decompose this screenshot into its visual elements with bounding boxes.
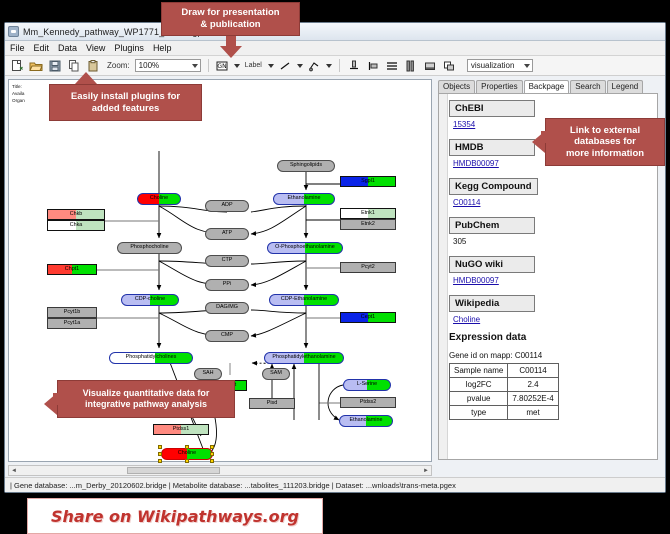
metabolite-node-phosphocholine[interactable]: Phosphocholine [117,242,182,254]
pathvisio-window: Mm_Kennedy_pathway_WP1771_45176.gpml Fil… [4,22,666,493]
node-label: Ethanolamine [288,196,321,201]
selection-handle[interactable] [185,445,189,449]
selection-handle[interactable] [210,445,214,449]
callout-plugins-text: Easily install plugins foradded features [71,91,180,114]
node-label: O-Phosphoethanolamine [275,245,335,250]
callout-visualize: Visualize quantitative data forintegrati… [57,380,235,418]
callout-draw-arrow [220,46,242,58]
metabolite-node-adp[interactable]: ADP [205,200,249,212]
selection-handle[interactable] [158,459,162,463]
db-label-hmdb: HMDB [449,139,535,156]
new-file-icon[interactable] [10,59,24,73]
node-label: Pcyt1b [64,310,80,315]
open-folder-icon[interactable] [29,59,43,73]
gene-id-on-mapp: Gene id on mapp: C00114 [449,351,655,360]
expr-key-sample-name: Sample name [450,364,508,378]
table-row: type met [450,406,559,420]
node-label: SAM [270,371,282,376]
copy-icon[interactable] [67,59,81,73]
status-bar: | Gene database: ...m_Derby_20120602.bri… [5,477,665,492]
menu-bar: File Edit Data View Plugins Help [5,41,665,56]
node-label: Chkb [70,212,83,217]
selection-handle[interactable] [210,452,214,456]
toolbar-separator-2 [339,59,340,72]
gene-node-chpt1[interactable]: Chpt1 [47,264,97,275]
node-label: Sgpl1 [361,179,375,184]
metabolite-node-cdp_choline[interactable]: CDP-choline [121,294,179,306]
metabolite-node-ethanolamine_bottom[interactable]: Ethanolamine [339,415,393,427]
callout-visualize-stem [53,393,59,405]
metabolite-node-cdp_ethanolamine[interactable]: CDP-Ethanolamine [269,294,339,306]
gene-node-etnk2[interactable]: Etnk2 [340,219,396,230]
status-bar-text: | Gene database: ...m_Derby_20120602.bri… [10,481,456,490]
chevron-down-icon [192,64,198,68]
node-label: Choline [150,196,168,201]
node-label: L-Serine [357,382,377,387]
toolbar: Zoom: 100% GN Label [5,56,665,76]
scroll-right-icon[interactable]: ► [423,468,429,474]
align-left-icon[interactable] [366,59,380,73]
selection-handle[interactable] [158,445,162,449]
menu-data[interactable]: Data [58,43,77,53]
table-row: pvalue 7.80252E-4 [450,392,559,406]
svg-text:GN: GN [217,63,226,70]
h-scroll-thumb[interactable] [127,467,220,474]
metabolite-node-dagmg[interactable]: DAG/MG [205,302,249,314]
gene-node-pcyt1b[interactable]: Pcyt1b [47,307,97,318]
interaction-dropdown-icon[interactable] [326,64,332,68]
menu-view[interactable]: View [86,43,105,53]
db-label-pubchem: PubChem [449,217,535,234]
node-label: Cept1 [361,315,375,320]
node-label: Ethanolamine [350,418,383,423]
db-link-wikipedia[interactable]: Choline [453,315,655,324]
menu-plugins[interactable]: Plugins [114,43,144,53]
visualization-combo[interactable]: visualization [467,59,533,72]
node-label: Sphingolipids [290,163,322,168]
expr-val-sample-name: C00114 [508,364,558,378]
tab-backpage[interactable]: Backpage [524,80,570,94]
pathway-canvas[interactable]: Title: Availa Organ [8,79,432,462]
gene-node-sgpl1[interactable]: Sgpl1 [340,176,396,187]
db-label-nugo-wiki: NuGO wiki [449,256,535,273]
gene-node-chka[interactable]: Chka [47,220,105,231]
node-label: CTP [222,258,233,263]
save-icon[interactable] [48,59,62,73]
distribute-icon[interactable] [385,59,399,73]
visualization-value: visualization [471,61,515,70]
menu-edit[interactable]: Edit [34,43,50,53]
gene-node-pisd[interactable]: Pisd [249,398,295,409]
gene-node-ptdss1[interactable]: Ptdss1 [153,424,209,435]
node-label: Etnk1 [361,211,375,216]
db-label-chebi: ChEBI [449,100,535,117]
menu-help[interactable]: Help [153,43,172,53]
node-label: Choline [178,451,196,456]
gene-node-pcyt2[interactable]: Pcyt2 [340,262,396,273]
title-bar: Mm_Kennedy_pathway_WP1771_45176.gpml [5,23,665,41]
gene-node-cept1[interactable]: Cept1 [340,312,396,323]
paste-icon[interactable] [86,59,100,73]
gene-node-ptdss2[interactable]: Ptdss2 [340,397,396,408]
node-label: Phosphatidylethanolamine [272,355,335,360]
db-link-kegg-compound[interactable]: C00114 [453,198,655,207]
share-banner: Share on Wikipathways.org [27,498,323,534]
tab-search[interactable]: Search [570,80,605,93]
node-label: ATP [222,231,232,236]
label-dropdown-icon[interactable] [268,64,274,68]
callout-link-text: Link to externaldatabases formore inform… [566,125,644,160]
metabolite-node-choline_top[interactable]: Choline [137,193,181,205]
node-label: SAH [202,371,213,376]
callout-plugins: Easily install plugins foradded features [49,84,202,121]
backpage-scrollbar[interactable] [439,94,448,459]
node-label: Etnk2 [361,222,375,227]
zoom-combo[interactable]: 100% [135,59,201,72]
node-label: Phosphocholine [130,245,168,250]
node-label: DAG/MG [216,305,238,310]
label-tool-label[interactable]: Label [245,62,262,69]
zoom-label: Zoom: [107,61,130,70]
selection-handle[interactable] [158,452,162,456]
tab-properties[interactable]: Properties [476,80,522,93]
db-value-pubchem: 305 [453,237,655,246]
tab-objects[interactable]: Objects [438,80,475,93]
stack-icon[interactable] [404,59,418,73]
table-row: log2FC 2.4 [450,378,559,392]
metabolite-node-l_serine_right[interactable]: L-Serine [343,379,391,391]
callout-plugins-arrow [75,72,97,84]
group-icon[interactable] [423,59,437,73]
callout-link-stem [541,131,547,143]
metabolite-node-sah_left[interactable]: SAH [194,368,222,380]
node-label: CMP [221,333,233,338]
toolbar-separator-1 [208,59,209,72]
node-label: Pisd [267,401,278,406]
expr-val-type: met [508,406,558,420]
node-label: Ptdss2 [360,400,376,405]
gene-node-pcyt1a[interactable]: Pcyt1a [47,318,97,329]
node-label: ADP [221,203,232,208]
expr-key-log2fc: log2FC [450,378,508,392]
zoom-value: 100% [139,61,159,70]
app-icon [8,26,19,37]
gene-node-chkb[interactable]: Chkb [47,209,105,220]
expression-data-heading: Expression data [449,332,655,343]
selection-handle[interactable] [185,459,189,463]
node-label: CDP-Ethanolamine [281,297,327,302]
db-label-wikipedia: Wikipedia [449,295,535,312]
node-label: Chpt1 [65,267,79,272]
canvas-h-scrollbar[interactable]: ◄ ► [8,465,432,476]
db-label-kegg-compound: Kegg Compound [449,178,538,195]
line-dropdown-icon[interactable] [297,64,303,68]
metabolite-node-atp[interactable]: ATP [205,228,249,240]
screenshot-root: Mm_Kennedy_pathway_WP1771_45176.gpml Fil… [0,0,670,509]
align-top-icon[interactable] [347,59,361,73]
node-label: CDP-choline [135,297,165,302]
selection-handle[interactable] [210,459,214,463]
line-icon[interactable] [279,59,291,73]
menu-file[interactable]: File [10,43,25,53]
node-label: Ptdss1 [173,427,189,432]
table-row: Sample name C00114 [450,364,559,378]
expr-key-pvalue: pvalue [450,392,508,406]
scroll-left-icon[interactable]: ◄ [11,468,17,474]
node-label: Pcyt2 [361,265,374,270]
expression-table: Sample name C00114 log2FC 2.4 pvalue 7.8… [449,363,559,420]
expr-key-type: type [450,406,508,420]
node-label: Chka [70,223,83,228]
node-label: PPi [223,282,231,287]
metabolite-node-ppi[interactable]: PPi [205,279,249,291]
callout-visualize-text: Visualize quantitative data forintegrati… [83,388,210,410]
node-label: Pcyt1a [64,321,80,326]
metabolite-node-sam_right[interactable]: SAM [262,368,290,380]
metabolite-node-sphingolipids[interactable]: Sphingolipids [277,160,335,172]
share-banner-text: Share on Wikipathways.org [51,507,299,526]
metabolite-node-ctp[interactable]: CTP [205,255,249,267]
expr-val-pvalue: 7.80252E-4 [508,392,558,406]
callout-draw: Draw for presentation& publication [161,2,300,36]
metabolite-node-ethanolamine_top[interactable]: Ethanolamine [273,193,335,205]
metabolite-node-cmp[interactable]: CMP [205,330,249,342]
side-panel-tabs: Objects Properties Backpage Search Legen… [434,79,662,93]
db-link-nugo-wiki[interactable]: HMDB00097 [453,276,655,285]
chevron-down-icon [524,64,530,68]
order-icon[interactable] [442,59,456,73]
callout-draw-text: Draw for presentation& publication [181,7,279,30]
interaction-icon[interactable] [308,59,320,73]
metabolite-node-phosphatidylethanolamine[interactable]: Phosphatidylethanolamine [264,352,344,364]
node-label: Phosphatidylcholines [126,355,177,360]
datanode-icon[interactable]: GN [216,59,228,73]
metabolite-node-o_phosphoethanolamine[interactable]: O-Phosphoethanolamine [267,242,343,254]
metabolite-node-phosphatidylcholines[interactable]: Phosphatidylcholines [109,352,193,364]
tab-legend[interactable]: Legend [607,80,644,93]
gene-node-etnk1[interactable]: Etnk1 [340,208,396,219]
callout-link: Link to externaldatabases formore inform… [545,118,665,166]
expr-val-log2fc: 2.4 [508,378,558,392]
datanode-dropdown-icon[interactable] [234,64,240,68]
